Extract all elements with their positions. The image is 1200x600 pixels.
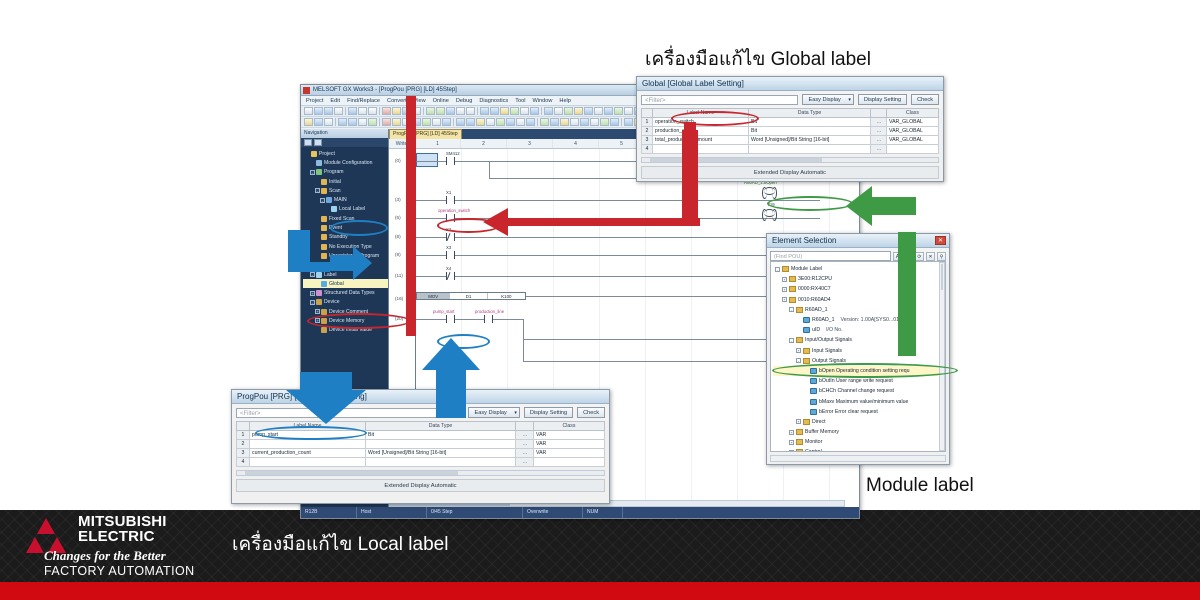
contact-x4-negated[interactable] <box>446 272 455 280</box>
expander-icon[interactable]: - <box>789 338 794 343</box>
sidebar-item-label: Initial <box>329 179 341 185</box>
toolbar-icon-tb1-10[interactable] <box>392 107 401 115</box>
toolbar-icon-tb1-5[interactable] <box>348 107 357 115</box>
toolbar-icon-tb2-15[interactable] <box>442 118 451 126</box>
label-icon <box>316 272 322 278</box>
element-tree-item-3e00-r12cpu[interactable]: +3E00:R12CPU <box>773 274 945 284</box>
program-icon <box>316 262 322 268</box>
toolbar-icon-tb1-35[interactable] <box>624 107 633 115</box>
toolbar-separator <box>379 107 380 115</box>
menu-item-debug[interactable]: Debug <box>456 98 472 104</box>
expander-icon[interactable]: + <box>796 419 801 424</box>
sidebar-item-fb-fun[interactable]: FB/FUN <box>303 261 388 270</box>
ladder-column-1: 1 <box>415 139 461 148</box>
label-name-cell[interactable] <box>250 458 366 467</box>
toolbar-separator <box>379 118 380 126</box>
folder-icon <box>796 429 803 435</box>
class-cell[interactable]: VAR <box>534 431 605 440</box>
element-tree-item-input-output-signals[interactable]: -Input/Output Signals <box>773 335 945 345</box>
toolbar-icon-tb2-23[interactable] <box>516 118 525 126</box>
rung-step-8: (8) <box>395 234 401 239</box>
sdt-icon <box>316 290 322 296</box>
element-tree-item-label: 0010:R60AD4 <box>798 297 831 303</box>
block-icon <box>803 317 810 323</box>
data-type-cell[interactable]: Bit <box>366 431 516 440</box>
expander-icon[interactable]: - <box>310 300 315 305</box>
toolbar-icon-tb1-22[interactable] <box>500 107 509 115</box>
toolbar-icon-tb2-35[interactable] <box>624 118 633 126</box>
toolbar-icon-tb2-9[interactable] <box>382 118 391 126</box>
table-row[interactable]: 2production_colourBit…VAR_GLOBAL <box>642 127 939 136</box>
expander-icon[interactable]: + <box>782 297 787 302</box>
toolbar-icon-tb1-34[interactable] <box>614 107 623 115</box>
global-col-class: Class <box>887 109 939 118</box>
sidebar-item-label: Standby <box>329 234 348 240</box>
data-type-browse-button[interactable]: … <box>871 118 887 127</box>
coil-y19[interactable] <box>764 209 775 217</box>
toolbar-icon-tb2-33[interactable] <box>610 118 619 126</box>
global-icon <box>321 281 327 287</box>
toolbar-icon-tb2-28[interactable] <box>560 118 569 126</box>
sidebar-item-local-label[interactable]: Local Label <box>303 205 388 214</box>
contact-pump-start[interactable] <box>446 315 455 323</box>
expander-icon[interactable]: - <box>789 307 794 312</box>
block-icon <box>803 327 810 333</box>
navigation-toolbar[interactable] <box>301 138 388 147</box>
coil-module-label[interactable] <box>764 187 775 195</box>
row-number: 3 <box>642 136 653 145</box>
element-tree-vertical-scrollbar[interactable] <box>939 262 945 451</box>
class-cell[interactable] <box>534 458 605 467</box>
element-tree-item-uid[interactable]: uIDI/O No. <box>773 325 945 335</box>
toolbar-icon-tb1-20[interactable] <box>480 107 489 115</box>
toolbar-icon-tb1-27[interactable] <box>544 107 553 115</box>
data-type-cell[interactable]: Word [Unsigned]/Bit String [16-bit] <box>749 136 871 145</box>
sidebar-item-initial[interactable]: Initial <box>303 177 388 186</box>
folder-icon <box>803 419 810 425</box>
data-type-browse-button[interactable]: … <box>871 145 887 154</box>
data-type-cell[interactable] <box>366 440 516 449</box>
toolbar-icon-tb1-14[interactable] <box>426 107 435 115</box>
highlight-ellipse-nav-global <box>307 313 411 329</box>
element-tree-item-label: bCHCh Channel change request <box>819 388 894 394</box>
sidebar-item-program[interactable]: -Program <box>303 168 388 177</box>
refresh-icon[interactable]: ⟳ <box>915 252 924 261</box>
local-check-button[interactable]: Check <box>577 407 605 418</box>
logo-tagline: Changes for the Better <box>44 548 166 564</box>
toolbar-icon-tb2-7[interactable] <box>368 118 377 126</box>
toolbar-icon-tb1-3[interactable] <box>334 107 343 115</box>
toolbar-icon-tb2-11[interactable] <box>402 118 411 126</box>
sidebar-item-label: Label <box>324 272 336 278</box>
menu-item-find-replace[interactable]: Find/Replace <box>347 98 380 104</box>
toolbar-icon-tb1-0[interactable] <box>304 107 313 115</box>
sidebar-item-label: FB/FUN <box>324 262 342 268</box>
toolbar-icon-tb2-17[interactable] <box>456 118 465 126</box>
element-tree-item-label: bMaxv Maximum value/minimum value <box>819 399 908 405</box>
class-cell[interactable]: VAR_GLOBAL <box>887 136 939 145</box>
data-type-cell[interactable] <box>366 458 516 467</box>
toolbar-separator <box>541 107 542 115</box>
toolbar-icon-tb1-28[interactable] <box>554 107 563 115</box>
device-label-x4: X4 <box>446 266 451 271</box>
toolbar-icon-tb2-19[interactable] <box>476 118 485 126</box>
class-cell[interactable]: VAR_GLOBAL <box>887 118 939 127</box>
toolbar-icon-tb1-24[interactable] <box>520 107 529 115</box>
global-horizontal-scrollbar[interactable] <box>641 157 939 163</box>
sidebar-item-structured-data-types[interactable]: +Structured Data Types <box>303 288 388 297</box>
toolbar-icon-tb1-31[interactable] <box>584 107 593 115</box>
sidebar-item-label: Global <box>329 281 344 287</box>
global-filter-bar[interactable]: <Filter> Easy Display Display Setting Ch… <box>637 91 943 108</box>
toolbar-icon-tb1-6[interactable] <box>358 107 367 115</box>
row-number: 3 <box>237 449 250 458</box>
element-tree-item-label: R60AD_1 <box>812 317 835 323</box>
data-type-browse-button[interactable]: … <box>516 440 534 449</box>
block-icon <box>810 399 817 405</box>
menu-item-convert[interactable]: Convert <box>387 98 407 104</box>
data-type-browse-button[interactable]: … <box>516 449 534 458</box>
toolbar-icon-tb1-2[interactable] <box>324 107 333 115</box>
sidebar-item-label: Project <box>319 151 335 157</box>
label-icon <box>331 206 337 212</box>
sidebar-item-label: Structured Data Types <box>324 290 375 296</box>
device-label-sm412: SM412 <box>446 151 460 156</box>
label-name-cell[interactable] <box>653 145 749 154</box>
caption-module-label: Module label <box>866 475 974 497</box>
highlight-ellipse-bopen-signal <box>772 363 958 378</box>
expander-icon[interactable]: + <box>782 287 787 292</box>
sidebar-item-device[interactable]: -Device <box>303 298 388 307</box>
toolbar-icon-tb2-12[interactable] <box>412 118 421 126</box>
local-display-setting-button[interactable]: Display Setting <box>524 407 573 418</box>
folder-icon <box>321 179 327 185</box>
contact-sm412[interactable] <box>446 157 455 165</box>
toolbar-separator <box>335 118 336 126</box>
folder-icon <box>803 358 810 364</box>
toolbar-icon-tb1-17[interactable] <box>456 107 465 115</box>
selected-cell[interactable] <box>416 153 438 167</box>
footer-red-bar <box>0 582 1200 600</box>
caption-local-label: เครื่องมือแก้ไข Local label <box>232 529 448 559</box>
rung-step-11: (11) <box>395 273 403 278</box>
toolbar-icon-tb1-25[interactable] <box>530 107 539 115</box>
device-icon <box>316 299 322 305</box>
logo-line-1: MITSUBISHI <box>78 514 167 529</box>
element-tree-item-label: Direct <box>812 419 826 425</box>
expander-icon[interactable]: - <box>310 170 315 175</box>
pin-icon[interactable]: ⚲ <box>937 252 946 261</box>
menu-item-diagnostics[interactable]: Diagnostics <box>479 98 508 104</box>
toolbar-icon-tb1-23[interactable] <box>510 107 519 115</box>
element-tree-item-bchch-channel-change-request[interactable]: bCHCh Channel change request <box>773 386 945 396</box>
global-easy-display-button[interactable]: Easy Display <box>802 94 853 105</box>
class-cell[interactable] <box>887 145 939 154</box>
toolbar-icon-tb2-18[interactable] <box>466 118 475 126</box>
local-label-window[interactable]: ProgPou [PRG] [Local Label Setting] <Fil… <box>231 389 610 504</box>
element-tree-item-r60ad-1[interactable]: -R60AD_1 <box>773 305 945 315</box>
data-type-browse-button[interactable]: … <box>516 458 534 467</box>
mov-opcode: MOV <box>417 293 450 299</box>
element-tree-item-monitor[interactable]: +Monitor <box>773 437 945 447</box>
element-tree-item-buffer-memory[interactable]: +Buffer Memory <box>773 427 945 437</box>
toolbar-icon-tb1-32[interactable] <box>594 107 603 115</box>
sidebar-item-label: Scan <box>329 188 341 194</box>
toolbar-icon-tb1-18[interactable] <box>466 107 475 115</box>
device-label-x1: X1 <box>446 190 451 195</box>
toolbar-icon-tb2-2[interactable] <box>324 118 333 126</box>
table-row[interactable]: 3current_production_countWord [Unsigned]… <box>237 449 605 458</box>
highlight-ellipse-global-label-name <box>671 111 759 126</box>
local-filter-input[interactable]: <Filter> <box>236 408 464 418</box>
toolbar-separator <box>477 107 478 115</box>
expander-icon[interactable]: - <box>320 198 325 203</box>
sidebar-item-label: Device <box>324 299 340 305</box>
folder-icon <box>321 234 327 240</box>
toolbar-icon-tb2-21[interactable] <box>496 118 505 126</box>
ladder-write-mode-label: Write <box>389 139 415 148</box>
element-tree-item-0010-r60ad4[interactable]: +0010:R60AD4 <box>773 295 945 305</box>
device-label-production-line: production_line <box>475 309 504 314</box>
element-tree-item-0000-rx40c7[interactable]: +0000:RX40C7 <box>773 284 945 294</box>
toolbar-icon-tb2-13[interactable] <box>422 118 431 126</box>
element-tree-item-label: R60AD_1 <box>805 307 828 313</box>
global-col-ellipsis <box>871 109 887 118</box>
class-cell[interactable]: VAR <box>534 440 605 449</box>
local-filter-bar[interactable]: <Filter> Easy Display Display Setting Ch… <box>232 404 609 421</box>
label-name-cell[interactable]: total_production_amount <box>653 136 749 145</box>
sidebar-item-scan[interactable]: -Scan <box>303 186 388 195</box>
row-number: 4 <box>237 458 250 467</box>
element-tree-item-input-signals[interactable]: +Input Signals <box>773 346 945 356</box>
menu-item-tool[interactable]: Tool <box>515 98 525 104</box>
sidebar-item-module-configuration[interactable]: Module Configuration <box>303 158 388 167</box>
toolbar-icon-tb2-29[interactable] <box>570 118 579 126</box>
highlight-ellipse-ladder-module-coil <box>767 196 853 211</box>
element-tree-item-bmaxv-maximum-value-minimum-value[interactable]: bMaxv Maximum value/minimum value <box>773 396 945 406</box>
toolbar-separator <box>453 118 454 126</box>
data-type-cell[interactable]: Bit <box>749 118 871 127</box>
toolbar-icon-tb2-1[interactable] <box>314 118 323 126</box>
folder-icon <box>321 216 327 222</box>
folder-icon <box>803 348 810 354</box>
data-type-cell[interactable]: Bit <box>749 127 871 136</box>
global-extended-display-footer: Extended Display Automatic <box>641 166 939 179</box>
contact-x3[interactable] <box>446 251 455 259</box>
toolbar-icon-tb2-31[interactable] <box>590 118 599 126</box>
toolbar-icon-tb2-6[interactable] <box>358 118 367 126</box>
expander-icon[interactable]: - <box>310 272 315 277</box>
global-display-setting-button[interactable]: Display Setting <box>858 94 907 105</box>
toolbar-icon-tb1-12[interactable] <box>412 107 421 115</box>
expander-icon[interactable]: + <box>789 450 794 452</box>
class-cell[interactable]: VAR_GLOBAL <box>887 127 939 136</box>
folder-icon <box>789 297 796 303</box>
contact-x1[interactable] <box>446 196 455 204</box>
element-tree-item-label: Buffer Memory <box>805 429 839 435</box>
menu-item-view[interactable]: View <box>414 98 426 104</box>
toolbar-icon-tb2-22[interactable] <box>506 118 515 126</box>
element-selection-window[interactable]: Element Selection ✕ (Find POU) A a ⟳ ✕ ⚲… <box>766 233 950 465</box>
menu-item-online[interactable]: Online <box>433 98 449 104</box>
local-extended-display-footer: Extended Display Automatic <box>236 479 605 492</box>
data-type-cell[interactable] <box>749 145 871 154</box>
app-icon <box>303 87 310 94</box>
expander-icon[interactable]: + <box>796 348 801 353</box>
toolbar-icon-tb1-9[interactable] <box>382 107 391 115</box>
sidebar-item-no-execution-type[interactable]: No Execution Type <box>303 242 388 251</box>
contact-production-line[interactable] <box>484 315 493 323</box>
folder-icon <box>321 188 327 194</box>
menu-item-edit[interactable]: Edit <box>330 98 340 104</box>
expander-icon[interactable]: + <box>310 291 315 296</box>
data-type-browse-button[interactable]: … <box>871 127 887 136</box>
toolbar-icon-tb2-27[interactable] <box>550 118 559 126</box>
table-row[interactable]: 2…VAR <box>237 440 605 449</box>
data-type-cell[interactable]: Word [Unsigned]/Bit String [16-bit] <box>366 449 516 458</box>
toolbar-icon-tb2-20[interactable] <box>486 118 495 126</box>
project-icon <box>311 151 317 157</box>
sidebar-item-label[interactable]: -Label <box>303 270 388 279</box>
nav-tool-icon-1[interactable] <box>304 139 312 146</box>
mov-source: D1 <box>450 293 487 299</box>
expander-icon[interactable]: - <box>796 358 801 363</box>
block-icon <box>810 378 817 384</box>
element-tree-item-label: Module Label <box>791 266 822 272</box>
toolbar-icon-tb1-21[interactable] <box>490 107 499 115</box>
nav-tool-icon-2[interactable] <box>314 139 322 146</box>
match-case-icon[interactable]: a <box>904 252 913 261</box>
sidebar-item-main[interactable]: -MAIN <box>303 195 388 204</box>
toolbar-separator <box>621 118 622 126</box>
device-label-x3: X3 <box>446 245 451 250</box>
sidebar-item-project[interactable]: Project <box>303 149 388 158</box>
search-icon[interactable]: A <box>893 252 902 261</box>
element-tree-item-label: bOutIn User range write request <box>819 378 893 384</box>
folder-icon <box>321 253 327 259</box>
row-number: 1 <box>642 118 653 127</box>
expander-icon[interactable]: - <box>315 188 320 193</box>
sidebar-item-unregistered-program[interactable]: Unregistered Program <box>303 251 388 260</box>
sidebar-item-global[interactable]: Global <box>303 279 388 288</box>
logo-wordmark: MITSUBISHI ELECTRIC <box>78 514 167 545</box>
menu-item-help[interactable]: Help <box>559 98 571 104</box>
rung-step-16: (16) <box>395 296 403 301</box>
folder-icon <box>796 449 803 452</box>
main-icon <box>326 197 332 203</box>
label-name-cell[interactable]: production_colour <box>653 127 749 136</box>
mov-instruction-block[interactable]: MOV D1 K100 <box>416 292 526 300</box>
sidebar-item-label: No Execution Type <box>329 244 372 250</box>
local-horizontal-scrollbar[interactable] <box>236 470 605 476</box>
mov-destination: K100 <box>488 293 525 299</box>
toolbar-icon-tb1-29[interactable] <box>564 107 573 115</box>
element-tree-item-r60ad-1[interactable]: R60AD_1Version: 1.00A[SYS0...014042 <box>773 315 945 325</box>
element-tree-horizontal-scrollbar[interactable] <box>770 455 946 462</box>
label-name-cell[interactable]: current_production_count <box>250 449 366 458</box>
toolbar-icon-tb1-33[interactable] <box>604 107 613 115</box>
global-check-button[interactable]: Check <box>911 94 939 105</box>
find-pou-input[interactable]: (Find POU) <box>770 251 891 261</box>
local-easy-display-button[interactable]: Easy Display <box>468 407 519 418</box>
toolbar-icon-tb2-10[interactable] <box>392 118 401 126</box>
toolbar-icon-tb2-14[interactable] <box>432 118 441 126</box>
element-tree-item-label: 0000:RX40C7 <box>798 286 831 292</box>
expander-icon[interactable]: + <box>789 430 794 435</box>
toolbar-icon-tb2-0[interactable] <box>304 118 313 126</box>
global-label-titlebar: Global [Global Label Setting] <box>637 77 943 91</box>
rung-step-5: (5) <box>395 215 401 220</box>
global-filter-input[interactable]: <Filter> <box>641 95 798 105</box>
toolbar-icon-tb1-1[interactable] <box>314 107 323 115</box>
folder-icon <box>782 266 789 272</box>
toolbar-icon-tb1-7[interactable] <box>368 107 377 115</box>
expander-icon[interactable]: + <box>315 309 320 314</box>
row-number: 4 <box>642 145 653 154</box>
table-row[interactable]: 4… <box>642 145 939 154</box>
status-num: NUM <box>583 507 623 518</box>
element-tree-item-label: Input Signals <box>812 348 842 354</box>
statusbar: R12BHost0/45 StepOverwriteNUM <box>301 507 859 518</box>
data-type-browse-button[interactable]: … <box>516 431 534 440</box>
ladder-column-4: 4 <box>553 139 599 148</box>
element-tree-item-module-label[interactable]: -Module Label <box>773 264 945 274</box>
device-label-pump-start: pump_start <box>433 309 455 314</box>
toolbar-icon-tb1-16[interactable] <box>446 107 455 115</box>
status-overwrite: Overwrite <box>523 507 583 518</box>
element-tree-item-direct[interactable]: +Direct <box>773 417 945 427</box>
toolbar-icon-tb2-4[interactable] <box>338 118 347 126</box>
label-name-cell[interactable] <box>250 440 366 449</box>
local-col-data-type: Data Type <box>366 422 516 431</box>
toolbar-icon-tb2-30[interactable] <box>580 118 589 126</box>
menu-item-project[interactable]: Project <box>306 98 323 104</box>
block-icon <box>810 388 817 394</box>
row-number: 2 <box>237 440 250 449</box>
contact-x2-negated[interactable] <box>446 233 455 241</box>
element-tree-item-label: bError Error clear request <box>819 409 878 415</box>
close-panel-icon[interactable]: ✕ <box>926 252 935 261</box>
table-row[interactable]: 3total_production_amountWord [Unsigned]/… <box>642 136 939 145</box>
menu-item-window[interactable]: Window <box>533 98 553 104</box>
rung-step-0: (0) <box>395 158 401 163</box>
element-tree-item-berror-error-clear-request[interactable]: bError Error clear request <box>773 407 945 417</box>
toolbar-icon-tb1-15[interactable] <box>436 107 445 115</box>
close-icon[interactable]: ✕ <box>935 236 946 245</box>
toolbar-icon-tb2-5[interactable] <box>348 118 357 126</box>
mitsubishi-logo: MITSUBISHI ELECTRIC Changes for the Bett… <box>22 514 252 576</box>
data-type-browse-button[interactable]: … <box>871 136 887 145</box>
toolbar-icon-tb2-24[interactable] <box>526 118 535 126</box>
table-row[interactable]: 4… <box>237 458 605 467</box>
rung-step-9: (9) <box>395 252 401 257</box>
element-tree-item-control[interactable]: +Control <box>773 447 945 452</box>
element-tree-item-label: 3E00:R12CPU <box>798 276 832 282</box>
status-r12b: R12B <box>301 507 357 518</box>
toolbar-icon-tb1-30[interactable] <box>574 107 583 115</box>
expander-icon[interactable]: + <box>782 277 787 282</box>
toolbar-icon-tb2-32[interactable] <box>600 118 609 126</box>
tab-progpou[interactable]: ProgPou [PRG] [LD] 45Step <box>389 129 462 139</box>
toolbar-icon-tb1-11[interactable] <box>402 107 411 115</box>
global-label-window[interactable]: Global [Global Label Setting] <Filter> E… <box>636 76 944 182</box>
expander-icon[interactable]: - <box>775 267 780 272</box>
folder-icon <box>321 225 327 231</box>
toolbar-icon-tb2-26[interactable] <box>540 118 549 126</box>
expander-icon[interactable]: + <box>789 440 794 445</box>
highlight-ellipse-nav-local-label <box>330 220 388 236</box>
class-cell[interactable]: VAR <box>534 449 605 458</box>
